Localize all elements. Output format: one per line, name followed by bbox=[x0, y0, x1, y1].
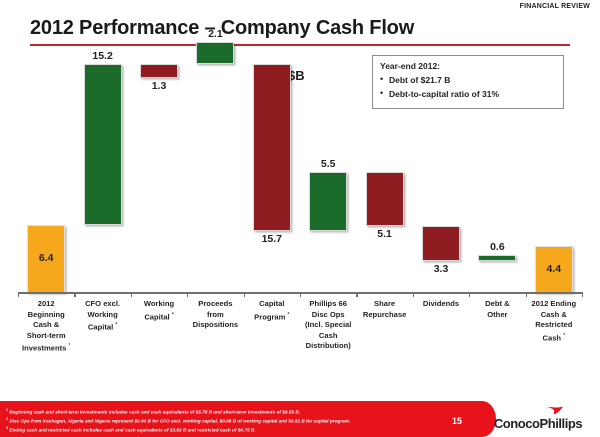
footnote-text: Ending cash and restricted cash includes… bbox=[9, 427, 255, 432]
bar-value-label: 15.2 bbox=[74, 50, 130, 62]
axis-tick bbox=[469, 292, 470, 297]
category-label: ShareRepurchase bbox=[356, 299, 412, 320]
waterfall-bar bbox=[196, 42, 234, 64]
footnote-text: Beginning cash and short-term investment… bbox=[9, 409, 300, 414]
axis-tick bbox=[356, 292, 357, 297]
waterfall-bar bbox=[253, 64, 291, 230]
chart-category-axis-labels: 2012BeginningCash &Short-termInvestments… bbox=[18, 299, 582, 394]
bar-value-label: 5.5 bbox=[300, 158, 356, 170]
axis-tick bbox=[74, 292, 75, 297]
waterfall-bar bbox=[84, 64, 122, 225]
footnote-list: 1 Beginning cash and short-term investme… bbox=[6, 407, 476, 434]
bar-value-label: 5.1 bbox=[356, 228, 412, 240]
category-label: Dividends bbox=[413, 299, 469, 310]
category-label: 2012 EndingCash &RestrictedCash ³ bbox=[526, 299, 582, 344]
footnote-item: 2 Disc Ops from Kashagan, Algeria and Ni… bbox=[6, 416, 476, 425]
axis-tick bbox=[18, 292, 19, 297]
footnote-item: 1 Beginning cash and short-term investme… bbox=[6, 407, 476, 416]
waterfall-bar bbox=[309, 172, 347, 230]
category-label: CFO excl.WorkingCapital ² bbox=[74, 299, 130, 333]
bar-value-label: 3.3 bbox=[413, 263, 469, 275]
bar-value-label: 1.3 bbox=[131, 80, 187, 92]
bar-value-label: 0.6 bbox=[469, 241, 525, 253]
axis-tick bbox=[131, 292, 132, 297]
axis-tick bbox=[244, 292, 245, 297]
axis-tick bbox=[582, 292, 583, 297]
axis-tick bbox=[413, 292, 414, 297]
bar-value-label: 6.4 bbox=[18, 252, 74, 264]
footnote-text: Disc Ops from Kashagan, Algeria and Nige… bbox=[9, 418, 350, 423]
waterfall-bar bbox=[422, 226, 460, 261]
bar-value-label: 2.1 bbox=[187, 28, 243, 40]
axis-tick bbox=[187, 292, 188, 297]
category-label: CapitalProgram ² bbox=[244, 299, 300, 323]
waterfall-chart-plot-area: 6.415.21.32.115.75.55.13.30.64.4 bbox=[18, 60, 582, 293]
category-label: WorkingCapital ² bbox=[131, 299, 187, 323]
category-label: 2012BeginningCash &Short-termInvestments… bbox=[18, 299, 74, 354]
title-underline-rule bbox=[30, 44, 570, 46]
conocophillips-logo: ConocoPhillips bbox=[484, 407, 592, 431]
page-number: 15 bbox=[452, 416, 462, 426]
waterfall-bar bbox=[140, 64, 178, 78]
bar-value-label: 4.4 bbox=[526, 263, 582, 275]
category-label: Phillips 66Disc Ops(Incl. SpecialCashDis… bbox=[300, 299, 356, 352]
waterfall-bar bbox=[478, 255, 516, 261]
axis-tick bbox=[526, 292, 527, 297]
logo-wordmark: ConocoPhillips bbox=[484, 416, 592, 431]
swoosh-icon bbox=[546, 406, 566, 415]
axis-tick bbox=[300, 292, 301, 297]
waterfall-bar bbox=[366, 172, 404, 226]
footer-red-band: 1 Beginning cash and short-term investme… bbox=[0, 401, 480, 437]
category-label: Debt &Other bbox=[469, 299, 525, 320]
footnote-item: 3 Ending cash and restricted cash includ… bbox=[6, 425, 476, 434]
financial-review-eyebrow: FINANCIAL REVIEW bbox=[520, 3, 590, 10]
category-label: ProceedsfromDispositions bbox=[187, 299, 243, 331]
bar-value-label: 15.7 bbox=[244, 233, 300, 245]
